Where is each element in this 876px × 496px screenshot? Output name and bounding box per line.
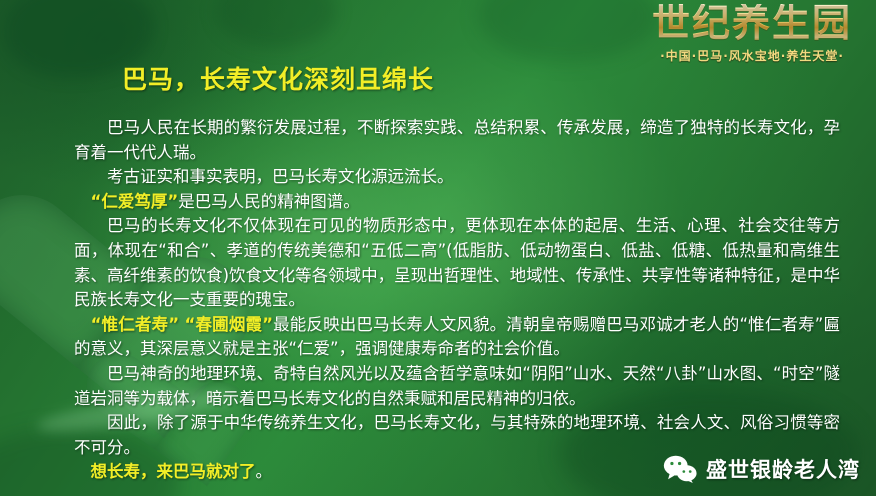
body-text: 巴马人民在长期的繁衍发展过程，不断探索实践、总结积累、传承发展，缔造了独特的长寿… [74,118,840,162]
body-text: 巴马的长寿文化不仅体现在可见的物质形态中，更体现在本体的起居、生活、心理、社会交… [74,216,840,309]
body-paragraph: “惟仁者寿” “春圃烟霞”最能反映出巴马长寿人文风貌。清朝皇帝赐赠巴马邓诚才老人… [74,313,840,362]
brand-logo-title: 世纪养生园 [640,4,864,42]
body-paragraph: 巴马人民在长期的繁衍发展过程，不断探索实践、总结积累、传承发展，缔造了独特的长寿… [74,116,840,165]
body-text: 考古证实和事实表明，巴马长寿文化源远流长。 [107,167,454,186]
highlighted-phrase: “春圃烟霞” [185,315,273,334]
footer-watermark: 盛世银龄老人湾 [663,454,860,484]
highlighted-phrase: “仁爱笃厚” [74,192,178,211]
body-text: 因此，除了源于中华传统养生文化，巴马长寿文化，与其特殊的地理环境、社会人文、风俗… [74,413,840,457]
brand-logo: 世纪养生园 ·中国·巴马·风水宝地·养生天堂· [640,4,864,62]
body-paragraph: “仁爱笃厚”是巴马人民的精神图谱。 [74,190,840,215]
highlighted-phrase: 想长寿，来巴马就对了 [74,462,256,481]
body-text: 是巴马人民的精神图谱。 [178,192,360,211]
body-text: 巴马神奇的地理环境、奇特自然风光以及蕴含哲学意味如“阴阳”山水、天然“八卦”山水… [74,364,840,408]
brand-logo-subtitle: ·中国·巴马·风水宝地·养生天堂· [640,50,864,62]
body-paragraph: 巴马神奇的地理环境、奇特自然风光以及蕴含哲学意味如“阴阳”山水、天然“八卦”山水… [74,362,840,411]
background-blob-top-right [478,0,658,62]
footer-watermark-label: 盛世银龄老人湾 [706,454,860,484]
body-text: 。 [256,462,273,481]
highlighted-phrase: “惟仁者寿” [74,315,179,334]
page-title: 巴马，长寿文化深刻且绵长 [122,60,434,96]
wechat-icon [663,454,697,484]
body-paragraph: 考古证实和事实表明，巴马长寿文化源远流长。 [74,165,840,190]
body-paragraph: 巴马的长寿文化不仅体现在可见的物质形态中，更体现在本体的起居、生活、心理、社会交… [74,214,840,312]
slide-canvas: 世纪养生园 ·中国·巴马·风水宝地·养生天堂· 巴马，长寿文化深刻且绵长 巴马人… [0,0,876,496]
body-copy: 巴马人民在长期的繁衍发展过程，不断探索实践、总结积累、传承发展，缔造了独特的长寿… [74,116,840,485]
body-paragraph: 因此，除了源于中华传统养生文化，巴马长寿文化，与其特殊的地理环境、社会人文、风俗… [74,411,840,460]
background-blob-top-middle [216,0,336,48]
